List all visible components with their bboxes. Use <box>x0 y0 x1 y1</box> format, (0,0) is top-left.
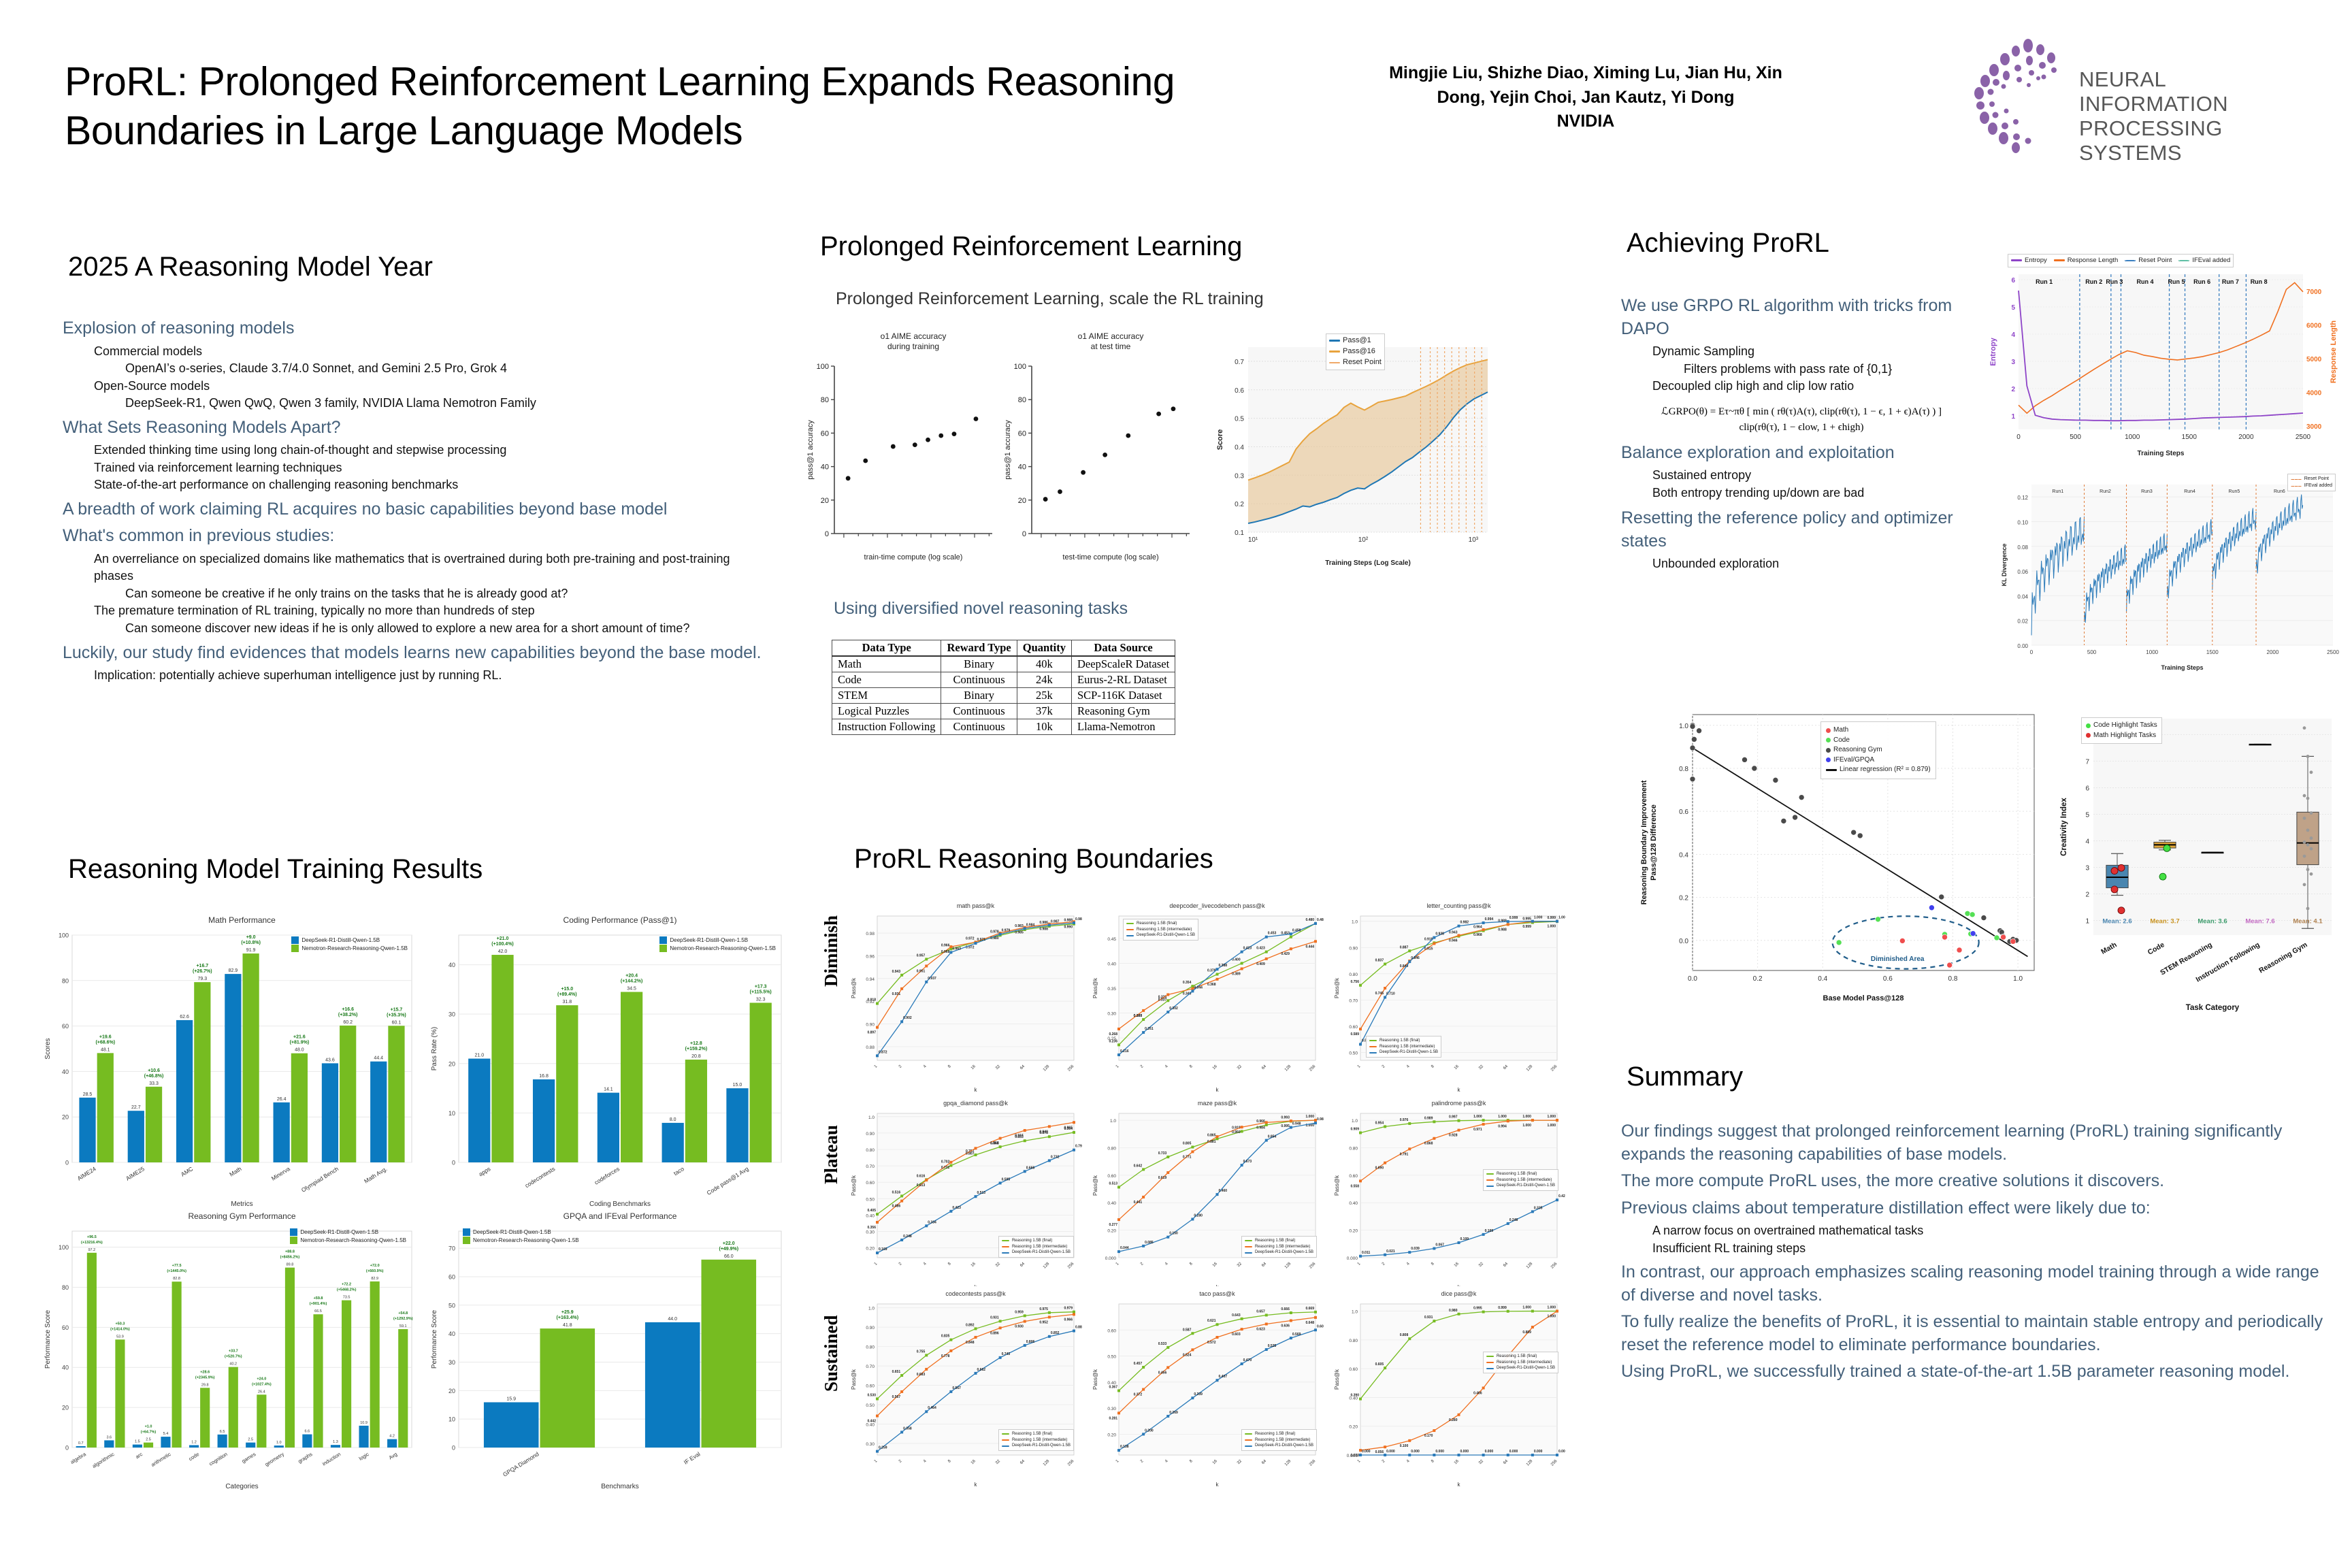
legend-item: Reasoning 1.5B (intermediate) <box>1002 1244 1071 1250</box>
svg-text:0.589: 0.589 <box>1350 1032 1359 1036</box>
svg-text:0.169: 0.169 <box>1485 1229 1494 1233</box>
svg-text:Mean: 3.6: Mean: 3.6 <box>2198 918 2227 926</box>
svg-text:128: 128 <box>1043 1262 1051 1270</box>
svg-text:0.513: 0.513 <box>1109 1181 1117 1186</box>
svg-text:0.50: 0.50 <box>1349 1051 1358 1056</box>
svg-text:Pass Rate (%): Pass Rate (%) <box>431 1027 438 1071</box>
svg-text:k: k <box>975 1482 978 1488</box>
svg-text:64: 64 <box>1019 1262 1026 1268</box>
svg-text:1: 1 <box>1115 1064 1120 1069</box>
svg-text:20: 20 <box>62 1114 69 1121</box>
subheading: Balance exploration and exploitation <box>1621 442 1982 465</box>
svg-text:0.943: 0.943 <box>1449 931 1458 935</box>
svg-text:+21.0: +21.0 <box>497 936 509 941</box>
svg-text:Run 7: Run 7 <box>2222 278 2239 285</box>
svg-text:0.40: 0.40 <box>1107 962 1116 966</box>
svg-text:4: 4 <box>2085 838 2089 845</box>
legend-item: DeepSeek-R1-Distill-Qwen-1.5B <box>1002 1443 1071 1449</box>
legend-gpqa: DeepSeek-R1-Distill-Qwen-1.5BNemotron-Re… <box>460 1227 582 1245</box>
legend-item: Reasoning Gym <box>1826 745 1931 755</box>
svg-text:0.280: 0.280 <box>1194 1213 1203 1218</box>
svg-text:128: 128 <box>1526 1064 1534 1073</box>
svg-text:Run6: Run6 <box>2274 489 2285 494</box>
svg-text:82.8: 82.8 <box>173 1277 180 1281</box>
legend-prl-score: Pass@1Pass@16Reset Point <box>1326 333 1385 370</box>
subheading: What's common in previous studies: <box>63 525 764 548</box>
achieving-body: We use GRPO RL algorithm with tricks fro… <box>1621 289 1982 573</box>
subheading: The more compute ProRL uses, the more cr… <box>1621 1170 2329 1193</box>
svg-text:3: 3 <box>2085 865 2089 872</box>
svg-text:16: 16 <box>1212 1064 1218 1071</box>
svg-text:2000: 2000 <box>2238 434 2254 441</box>
svg-text:0.778: 0.778 <box>941 1354 950 1358</box>
svg-text:60: 60 <box>1018 429 1026 438</box>
svg-text:4: 4 <box>2011 331 2015 339</box>
intro-body: Explosion of reasoning modelsCommercial … <box>63 313 764 685</box>
chart-palindrome-passk: palindrome pass@k0.0000.200.400.600.801.… <box>1330 1096 1565 1293</box>
svg-text:2: 2 <box>1140 1064 1145 1069</box>
svg-text:Pass@k: Pass@k <box>1334 1369 1340 1390</box>
chart-reasoning-boundary-improvement: 0.00.20.40.60.81.00.00.20.40.60.81.0Dimi… <box>1630 701 2045 1007</box>
legend-kl-chart: Reset PointIFEval added <box>2287 474 2336 491</box>
svg-text:6000: 6000 <box>2306 322 2322 329</box>
svg-text:0.90: 0.90 <box>866 1023 875 1028</box>
bullet-item: Unbounded exploration <box>1652 555 1982 573</box>
svg-text:16: 16 <box>970 1459 977 1465</box>
svg-text:0.000: 0.000 <box>1347 1256 1358 1261</box>
svg-text:Base Model Pass@128: Base Model Pass@128 <box>1823 994 1904 1002</box>
legend-item: Reasoning 1.5B (intermediate) <box>1486 1360 1555 1366</box>
svg-text:letter_counting pass@k: letter_counting pass@k <box>1426 902 1491 909</box>
svg-text:(+1445.0%): (+1445.0%) <box>167 1269 186 1273</box>
svg-text:0.643: 0.643 <box>1232 1313 1241 1318</box>
svg-text:1: 1 <box>2011 413 2015 421</box>
svg-text:0.98: 0.98 <box>866 932 875 936</box>
svg-text:0.12: 0.12 <box>2017 495 2028 501</box>
svg-text:(+64.7%): (+64.7%) <box>141 1431 157 1435</box>
svg-text:+24.0: +24.0 <box>257 1377 266 1381</box>
svg-text:256: 256 <box>1067 1262 1075 1270</box>
svg-text:256: 256 <box>1550 1064 1558 1073</box>
svg-text:8: 8 <box>947 1459 952 1464</box>
svg-text:k: k <box>1216 1087 1220 1093</box>
legend-item: Reasoning 1.5B (final) <box>1002 1431 1071 1437</box>
svg-text:44.4: 44.4 <box>374 1056 383 1061</box>
svg-text:(+68.6%): (+68.6%) <box>95 1040 115 1045</box>
svg-text:0.30: 0.30 <box>866 1230 875 1235</box>
subheading: We use GRPO RL algorithm with tricks fro… <box>1621 295 1982 340</box>
svg-text:5000: 5000 <box>2306 356 2322 363</box>
subheading: Using ProRL, we successfully trained a s… <box>1621 1360 2329 1384</box>
svg-text:Training Steps: Training Steps <box>2161 664 2203 671</box>
svg-text:0.35: 0.35 <box>1107 987 1116 992</box>
svg-text:2: 2 <box>1140 1459 1145 1464</box>
table-cell: 40k <box>1017 656 1071 672</box>
svg-text:4: 4 <box>923 1459 928 1464</box>
table-row: Logical PuzzlesContinuous37kReasoning Gy… <box>832 704 1175 719</box>
grpo-loss-formula: ℒGRPO(θ) = Eτ~πθ [ min ( rθ(τ)A(τ), clip… <box>1621 405 1982 418</box>
svg-text:8: 8 <box>1431 1064 1435 1069</box>
svg-text:0.200: 0.200 <box>1145 1428 1154 1433</box>
svg-text:dice pass@k: dice pass@k <box>1441 1290 1477 1297</box>
table-row: STEMBinary25kSCP-116K Dataset <box>832 688 1175 704</box>
svg-text:3: 3 <box>2011 359 2015 366</box>
svg-text:79.3: 79.3 <box>198 977 208 981</box>
table-cell: Binary <box>941 656 1017 672</box>
svg-text:33.3: 33.3 <box>149 1081 159 1086</box>
svg-text:Response Length: Response Length <box>2330 321 2338 384</box>
svg-text:31.8: 31.8 <box>563 1000 572 1004</box>
table-cell: Eurus-2-RL Dataset <box>1072 672 1175 688</box>
table-cell: Binary <box>941 688 1017 704</box>
svg-text:4.2: 4.2 <box>389 1435 395 1439</box>
svg-text:0.033: 0.033 <box>1350 1454 1359 1458</box>
svg-text:(+81.9%): (+81.9%) <box>290 1041 310 1045</box>
svg-text:gpqa_diamond pass@k: gpqa_diamond pass@k <box>943 1100 1008 1107</box>
legend-item: Code Highlight Tasks <box>2086 721 2157 731</box>
svg-text:0.916: 0.916 <box>1015 1134 1024 1138</box>
svg-text:0.980: 0.980 <box>1317 1117 1324 1122</box>
svg-text:10³: 10³ <box>1469 536 1479 544</box>
svg-text:10¹: 10¹ <box>1248 536 1258 544</box>
svg-text:(+10.8%): (+10.8%) <box>241 941 261 945</box>
svg-text:0.7: 0.7 <box>78 1441 84 1445</box>
svg-text:(+46.8%): (+46.8%) <box>144 1074 164 1079</box>
svg-text:0.000: 0.000 <box>1509 1450 1518 1454</box>
svg-text:0.892: 0.892 <box>966 1323 975 1327</box>
svg-text:16: 16 <box>1454 1064 1460 1071</box>
svg-text:0.980: 0.980 <box>1449 1309 1458 1313</box>
bullet-item: A narrow focus on overtrained mathematic… <box>1652 1222 2329 1240</box>
svg-text:10: 10 <box>448 1416 455 1423</box>
svg-text:(+660.9%): (+660.9%) <box>366 1269 384 1273</box>
reasoning-tasks-table: Data TypeReward TypeQuantityData Source … <box>832 640 1175 735</box>
svg-text:1: 1 <box>874 1459 879 1464</box>
svg-text:0.60: 0.60 <box>1349 1025 1358 1030</box>
svg-text:16: 16 <box>970 1262 977 1268</box>
svg-text:0.619: 0.619 <box>1158 1176 1167 1180</box>
svg-text:(+163.4%): (+163.4%) <box>557 1316 579 1320</box>
svg-text:82.9: 82.9 <box>371 1277 378 1281</box>
svg-text:0.976: 0.976 <box>1400 1118 1409 1122</box>
table-row: Instruction FollowingContinuous10kLlama-… <box>832 719 1175 735</box>
svg-text:0.595: 0.595 <box>1002 1177 1011 1181</box>
svg-text:2.5: 2.5 <box>248 1438 253 1442</box>
svg-text:0.613: 0.613 <box>917 1183 926 1188</box>
svg-text:0.852: 0.852 <box>1051 1331 1060 1335</box>
table-body: MathBinary40kDeepScaleR DatasetCodeConti… <box>832 656 1175 735</box>
row-label-sustained: Sustained <box>821 1315 842 1392</box>
svg-text:0.45: 0.45 <box>1107 937 1116 942</box>
svg-text:0.984: 0.984 <box>1026 923 1035 927</box>
svg-text:21.0: 21.0 <box>474 1053 484 1058</box>
svg-text:16: 16 <box>970 1064 977 1071</box>
row-label-diminish: Diminish <box>821 915 842 987</box>
svg-text:0.109: 0.109 <box>1460 1237 1469 1241</box>
svg-text:+10.6: +10.6 <box>148 1068 160 1073</box>
chart-math-passk: math pass@k0.880.900.920.940.960.980.918… <box>847 898 1082 1096</box>
legend-gym: DeepSeek-R1-Distill-Qwen-1.5BNemotron-Re… <box>287 1227 409 1245</box>
prl-subheading: Prolonged Reinforcement Learning, scale … <box>836 289 1264 309</box>
svg-text:1.0: 1.0 <box>2013 975 2023 983</box>
legend-boundary-scatter: MathCodeReasoning GymIFEval/GPQALinear r… <box>1820 721 1936 779</box>
svg-text:0.995: 0.995 <box>1522 917 1531 921</box>
svg-text:64: 64 <box>1261 1262 1267 1268</box>
svg-text:0.846: 0.846 <box>1411 956 1420 960</box>
svg-text:Run 5: Run 5 <box>2168 278 2185 285</box>
svg-text:0.952: 0.952 <box>1039 1320 1048 1324</box>
svg-text:28.5: 28.5 <box>83 1092 93 1097</box>
svg-text:1.000: 1.000 <box>1498 1115 1507 1119</box>
section-heading-prl: Prolonged Reinforcement Learning <box>820 231 1242 262</box>
svg-text:0.334: 0.334 <box>928 1220 936 1224</box>
svg-text:0.50: 0.50 <box>1107 1355 1116 1360</box>
svg-text:0.011: 0.011 <box>1362 1251 1370 1255</box>
legend-item: DeepSeek-R1-Distill-Qwen-1.5B <box>1245 1443 1313 1449</box>
svg-text:0.456: 0.456 <box>1158 1371 1167 1375</box>
svg-text:+25.9: +25.9 <box>561 1310 574 1315</box>
svg-text:0.533: 0.533 <box>1158 1342 1167 1346</box>
svg-text:128: 128 <box>1284 1459 1292 1467</box>
svg-text:2: 2 <box>898 1262 903 1267</box>
svg-text:0.20: 0.20 <box>1107 1229 1116 1234</box>
svg-text:40: 40 <box>448 962 455 968</box>
svg-text:0.000: 0.000 <box>1411 1450 1420 1454</box>
svg-text:(+26.7%): (+26.7%) <box>193 969 212 974</box>
svg-text:2: 2 <box>1382 1459 1386 1464</box>
svg-text:0.896: 0.896 <box>990 1331 999 1335</box>
svg-text:0.390: 0.390 <box>1350 1394 1359 1398</box>
svg-text:0.5: 0.5 <box>1235 416 1244 423</box>
svg-text:0.02: 0.02 <box>2017 619 2028 625</box>
svg-text:Math Performance: Math Performance <box>208 915 276 925</box>
svg-text:2000: 2000 <box>2267 649 2279 655</box>
svg-text:0.80: 0.80 <box>866 1148 875 1153</box>
svg-text:0.70: 0.70 <box>1349 998 1358 1003</box>
svg-text:1500: 1500 <box>2182 434 2198 441</box>
svg-text:taco pass@k: taco pass@k <box>1199 1290 1235 1297</box>
svg-text:0.04: 0.04 <box>2017 593 2028 600</box>
svg-text:+17.3: +17.3 <box>755 984 767 989</box>
svg-text:+77.5: +77.5 <box>172 1264 182 1268</box>
svg-text:+16.7: +16.7 <box>196 964 208 968</box>
svg-text:0.90: 0.90 <box>1349 946 1358 951</box>
legend-item: IFEval/GPQA <box>1826 755 1931 766</box>
svg-text:Pass@k: Pass@k <box>851 977 857 998</box>
svg-text:0.2: 0.2 <box>1679 895 1688 902</box>
svg-text:1.0: 1.0 <box>1352 1119 1358 1124</box>
svg-text:0.993: 0.993 <box>1281 1116 1290 1120</box>
svg-text:train-time compute (log scale): train-time compute (log scale) <box>864 553 963 561</box>
svg-text:82.9: 82.9 <box>229 968 238 973</box>
svg-text:(+144.2%): (+144.2%) <box>621 979 643 984</box>
svg-text:5.4: 5.4 <box>163 1432 169 1436</box>
svg-text:(+159.2%): (+159.2%) <box>685 1047 708 1051</box>
bullet-item: Extended thinking time using long chain-… <box>94 442 764 459</box>
subheading: Resetting the reference policy and optim… <box>1621 507 1982 553</box>
svg-text:Run1: Run1 <box>2052 489 2063 494</box>
svg-text:at test time: at test time <box>1091 342 1131 351</box>
svg-text:48.0: 48.0 <box>295 1048 304 1053</box>
svg-text:+15.0: +15.0 <box>561 987 573 992</box>
svg-text:(+1292.9%): (+1292.9%) <box>393 1317 413 1321</box>
svg-text:0.722: 0.722 <box>941 1166 950 1170</box>
svg-text:0.302: 0.302 <box>1169 1007 1178 1011</box>
svg-text:0.931: 0.931 <box>1424 1316 1433 1320</box>
chart-taco-passk: taco pass@k0.200.300.400.500.600.3670.45… <box>1089 1286 1324 1490</box>
legend-item: Reasoning 1.5B (final) <box>1369 1038 1438 1044</box>
svg-text:0.623: 0.623 <box>1256 1327 1265 1331</box>
svg-text:0.979: 0.979 <box>1002 929 1011 933</box>
svg-text:0.277: 0.277 <box>1109 1223 1117 1227</box>
svg-text:500: 500 <box>2070 434 2081 441</box>
chart-o1-accuracy-during-training: o1 AIME accuracyduring training020406080… <box>803 327 1000 572</box>
svg-text:Olympiad Bench: Olympiad Bench <box>300 1165 340 1194</box>
table-cell: Logical Puzzles <box>832 704 941 719</box>
chart-deepcoder-livecodebench-passk: deepcoder_livecodebench pass@k0.250.300.… <box>1089 898 1324 1096</box>
svg-text:0.60: 0.60 <box>1349 1174 1358 1179</box>
svg-text:0.000: 0.000 <box>1485 1450 1494 1454</box>
svg-text:0.60: 0.60 <box>866 1181 875 1186</box>
svg-text:+20.4: +20.4 <box>625 974 638 979</box>
svg-text:Performance Score: Performance Score <box>431 1309 438 1369</box>
svg-text:code: code <box>188 1451 201 1462</box>
svg-text:0.169: 0.169 <box>879 1247 887 1252</box>
svg-text:0.989: 0.989 <box>1075 917 1082 921</box>
svg-text:0.987: 0.987 <box>1051 919 1060 924</box>
svg-text:0: 0 <box>1022 530 1026 538</box>
svg-text:arc: arc <box>134 1451 144 1460</box>
svg-text:0.00: 0.00 <box>2017 643 2028 649</box>
legend-item: Nemotron-Research-Reasoning-Qwen-1.5B <box>659 945 776 953</box>
svg-text:0.732: 0.732 <box>1051 1155 1060 1159</box>
legend-item: DeepSeek-R1-Distill-Qwen-1.5B <box>659 936 776 945</box>
svg-text:0.2: 0.2 <box>1235 501 1244 508</box>
svg-text:1.000: 1.000 <box>1305 1115 1314 1119</box>
svg-text:0.948: 0.948 <box>1292 1122 1301 1126</box>
svg-text:(+35.3%): (+35.3%) <box>387 1013 406 1017</box>
svg-text:0.40: 0.40 <box>866 1213 875 1218</box>
table-cell: STEM <box>832 688 941 704</box>
svg-text:0.388: 0.388 <box>1219 964 1228 968</box>
chart-maze-passk: maze pass@k0.0000.200.400.600.801.00.513… <box>1089 1096 1324 1293</box>
svg-text:0.837: 0.837 <box>1375 959 1384 963</box>
svg-text:0.138: 0.138 <box>1120 1445 1129 1449</box>
svg-text:+15.7: +15.7 <box>391 1007 403 1012</box>
svg-text:+72.2: +72.2 <box>342 1283 351 1287</box>
svg-text:logic: logic <box>358 1451 370 1462</box>
svg-text:0.918: 0.918 <box>1424 937 1433 941</box>
svg-text:0.60: 0.60 <box>1107 1328 1116 1333</box>
svg-text:1.000: 1.000 <box>1547 925 1556 929</box>
svg-text:k: k <box>1458 1087 1461 1093</box>
svg-text:Pass@k: Pass@k <box>851 1175 857 1196</box>
svg-text:0.453: 0.453 <box>1268 932 1277 936</box>
legend-item: IFEval added <box>2291 483 2332 489</box>
svg-text:0.000: 0.000 <box>1362 1450 1371 1454</box>
svg-text:0.420: 0.420 <box>1558 1194 1565 1198</box>
svg-text:4000: 4000 <box>2306 389 2322 397</box>
svg-text:0.70: 0.70 <box>866 1365 875 1369</box>
svg-text:64: 64 <box>1019 1459 1026 1465</box>
svg-text:+50.3: +50.3 <box>115 1322 125 1326</box>
chart-creativity-index: 12345678Mean: 2.6Mean: 3.7Mean: 3.6Mean:… <box>2055 708 2341 1014</box>
svg-text:1.3: 1.3 <box>333 1440 338 1444</box>
bullet-item: Sustained entropy <box>1652 467 1982 485</box>
svg-text:0.887: 0.887 <box>1400 945 1409 949</box>
svg-text:0.80: 0.80 <box>1349 973 1358 977</box>
svg-text:0.951: 0.951 <box>917 969 926 973</box>
svg-text:+28.6: +28.6 <box>200 1370 210 1374</box>
svg-text:0.999: 0.999 <box>1509 916 1518 920</box>
svg-text:0.968: 0.968 <box>1473 933 1482 937</box>
bullet-item: Filters problems with pass rate of {0,1} <box>1684 361 1982 378</box>
svg-text:0.389: 0.389 <box>1232 972 1241 976</box>
svg-text:0.269: 0.269 <box>1169 1411 1178 1415</box>
svg-text:0.268: 0.268 <box>1109 1032 1117 1036</box>
row-label-plateau: Plateau <box>821 1125 842 1184</box>
svg-text:0.459: 0.459 <box>1292 928 1301 932</box>
svg-text:+88.8: +88.8 <box>285 1250 295 1254</box>
legend-item: Reasoning 1.5B (final) <box>1245 1238 1313 1244</box>
svg-text:Metrics: Metrics <box>231 1200 252 1208</box>
svg-text:64: 64 <box>1503 1064 1509 1071</box>
svg-text:0.657: 0.657 <box>1256 1309 1265 1313</box>
svg-text:0.6: 0.6 <box>1679 808 1688 816</box>
svg-text:0.216: 0.216 <box>1120 1049 1129 1053</box>
svg-text:Run5: Run5 <box>2229 489 2240 494</box>
svg-text:0.982: 0.982 <box>1460 921 1469 925</box>
svg-text:80: 80 <box>62 1284 69 1291</box>
svg-text:+59.8: +59.8 <box>314 1296 323 1301</box>
svg-text:0.06: 0.06 <box>2017 569 2028 575</box>
bullet-item: The premature termination of RL training… <box>94 602 764 620</box>
svg-text:2: 2 <box>2011 386 2015 393</box>
legend-item: IFEval added <box>2178 256 2230 265</box>
svg-text:0.902: 0.902 <box>903 1016 912 1020</box>
bullet-item: Insufficient RL training steps <box>1652 1240 2329 1258</box>
svg-text:5: 5 <box>2085 811 2089 819</box>
svg-text:geometry: geometry <box>264 1451 285 1467</box>
svg-text:Math: Math <box>2100 941 2118 956</box>
svg-text:6.6: 6.6 <box>305 1430 310 1434</box>
svg-text:0.10: 0.10 <box>2017 519 2028 525</box>
svg-text:during training: during training <box>887 342 939 351</box>
svg-text:0.423: 0.423 <box>952 1206 961 1210</box>
svg-text:1.2: 1.2 <box>191 1440 197 1444</box>
svg-text:taco: taco <box>672 1165 685 1177</box>
legend-pk1: Reasoning 1.5B (final)Reasoning 1.5B (in… <box>1123 919 1198 941</box>
svg-text:Pass@k: Pass@k <box>1334 1175 1340 1196</box>
legend-item: Reasoning 1.5B (final) <box>1486 1354 1555 1360</box>
svg-text:Categories: Categories <box>225 1483 258 1490</box>
svg-text:+9.0: +9.0 <box>246 935 256 940</box>
svg-text:128: 128 <box>1284 1262 1292 1270</box>
svg-text:0.946: 0.946 <box>1449 939 1458 943</box>
svg-text:0: 0 <box>2016 434 2021 441</box>
svg-text:256: 256 <box>1067 1064 1075 1073</box>
svg-text:0.881: 0.881 <box>1207 1140 1216 1144</box>
svg-text:8.0: 8.0 <box>670 1117 676 1122</box>
svg-text:128: 128 <box>1526 1459 1534 1467</box>
svg-text:0.636: 0.636 <box>1281 1324 1290 1328</box>
svg-text:Math: Math <box>228 1165 243 1178</box>
svg-text:16.8: 16.8 <box>539 1074 549 1079</box>
svg-text:(+13216.4%): (+13216.4%) <box>81 1241 103 1245</box>
table-cell: Math <box>832 656 941 672</box>
neurips-dot-swirl-icon <box>1953 37 2089 153</box>
svg-text:14.1: 14.1 <box>604 1088 613 1092</box>
